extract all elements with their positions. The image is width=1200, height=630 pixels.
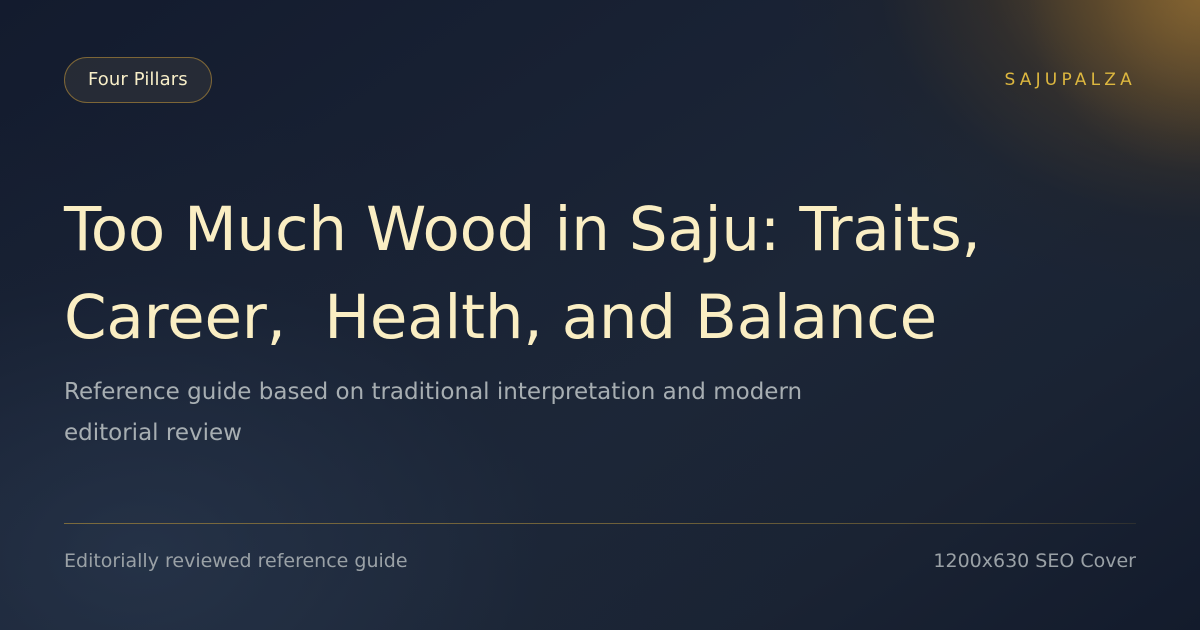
seo-cover-canvas: Four Pillars SAJUPALZA Too Much Wood in … <box>0 0 1200 630</box>
page-subtitle: Reference guide based on traditional int… <box>64 372 884 454</box>
footer-left-note: Editorially reviewed reference guide <box>64 549 408 574</box>
cover-content: Four Pillars SAJUPALZA Too Much Wood in … <box>0 0 1200 630</box>
footer-right-note: 1200x630 SEO Cover <box>933 549 1136 574</box>
category-badge: Four Pillars <box>64 57 212 103</box>
title-block: Too Much Wood in Saju: Traits, Career, H… <box>64 186 1074 362</box>
brand-wordmark: SAJUPALZA <box>1004 70 1136 90</box>
page-title: Too Much Wood in Saju: Traits, Career, H… <box>64 186 1074 362</box>
cover-header: Four Pillars SAJUPALZA <box>64 57 1136 103</box>
footer-divider <box>64 523 1136 524</box>
cover-footer: Editorially reviewed reference guide 120… <box>64 549 1136 574</box>
